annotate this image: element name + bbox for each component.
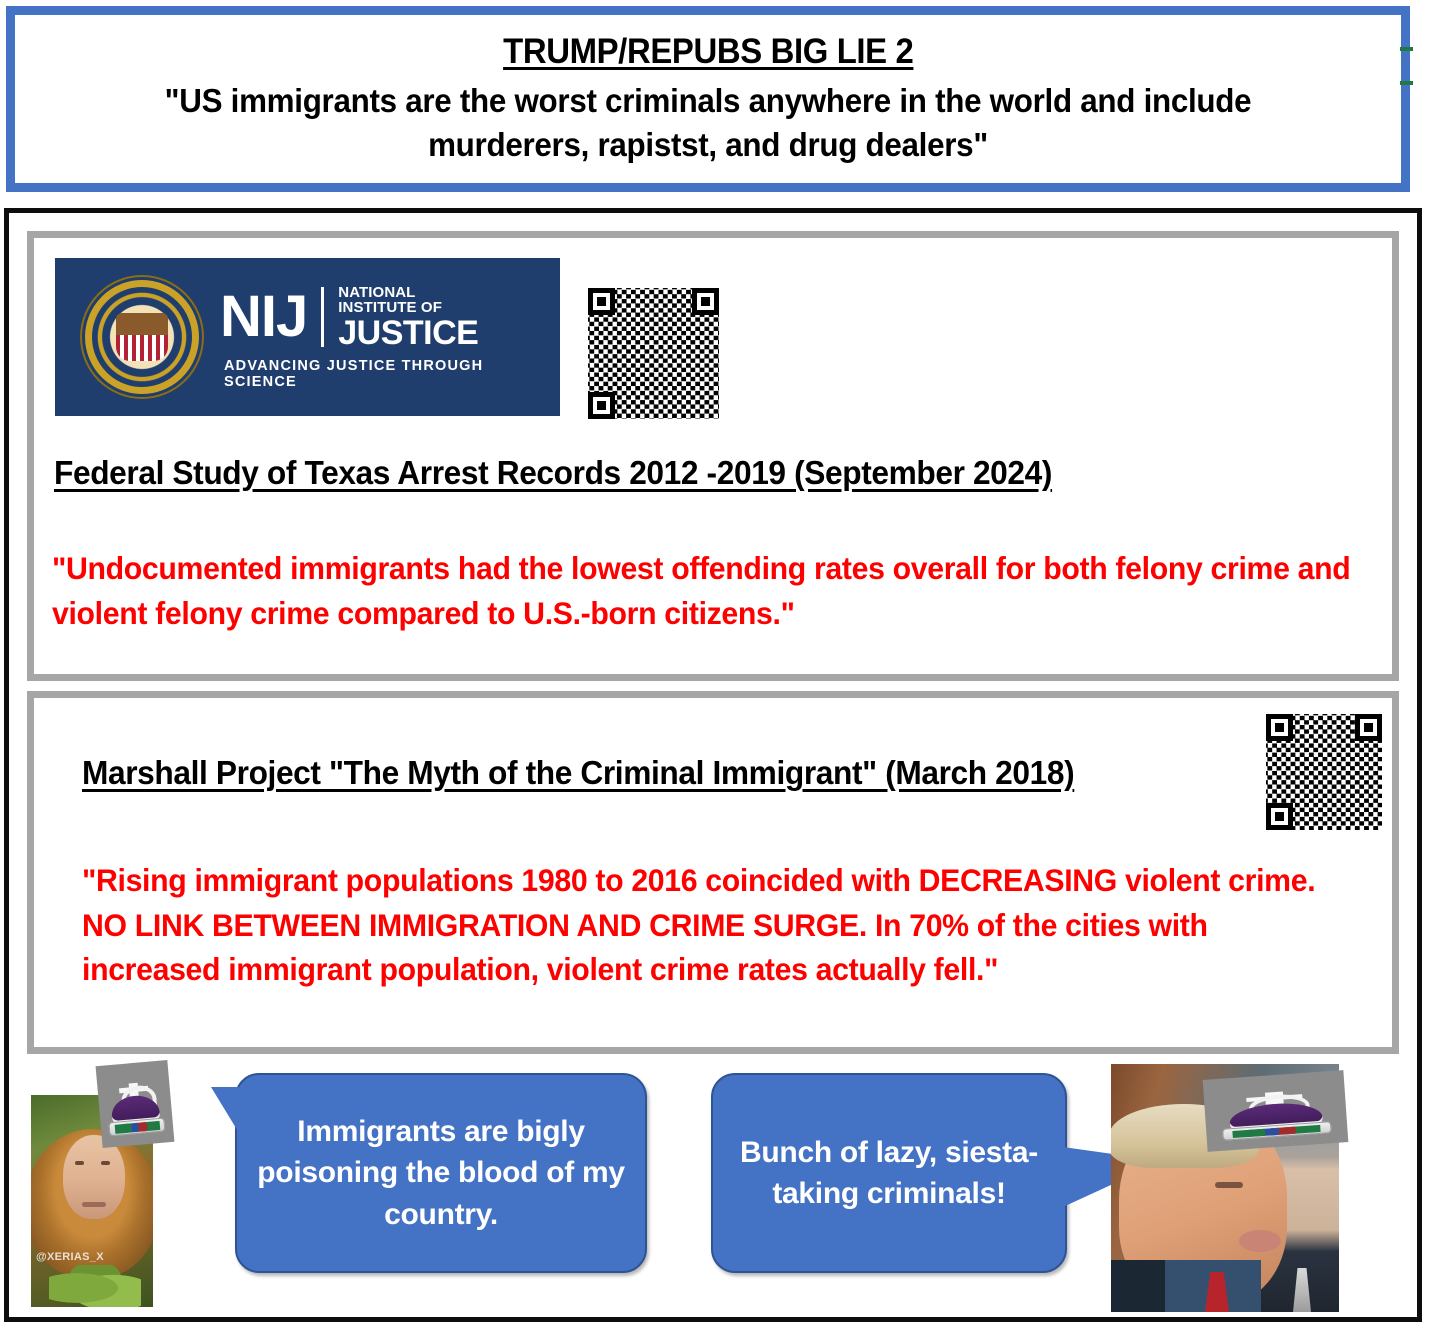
background-person-tie [1293,1268,1311,1312]
qr-code-icon-nij[interactable] [585,285,722,422]
source-panel-marshall: Marshall Project "The Myth of the Crimin… [27,691,1399,1054]
guide-mark-icon [1400,81,1413,85]
crown-icon-right [1203,1070,1349,1152]
speech-bubble-left: Immigrants are bigly poisoning the blood… [235,1073,647,1273]
nij-abbreviation: NIJ [220,289,307,344]
qr-code-icon-marshall[interactable] [1263,711,1385,833]
speech-bubble-right: Bunch of lazy, siesta-taking criminals! [711,1073,1067,1273]
nij-name-line-1: NATIONAL [338,285,478,300]
trump-lips [1239,1230,1281,1252]
evidence-frame: NIJ NATIONAL INSTITUTE OF JUSTICE ADVANC… [4,208,1422,1322]
source-quote-nij: "Undocumented immigrants had the lowest … [52,546,1358,635]
nij-name-line-2: INSTITUTE OF [338,300,478,315]
claim-line-1: "US immigrants are the worst criminals a… [91,79,1326,123]
doj-seal-icon [80,275,204,399]
speech-bubble-right-text: Bunch of lazy, siesta-taking criminals! [713,1132,1065,1215]
source-heading-marshall: Marshall Project "The Myth of the Crimin… [82,754,1074,792]
nij-wordmark: NIJ NATIONAL INSTITUTE OF JUSTICE ADVANC… [220,285,560,390]
nij-name-line-3: JUSTICE [338,316,478,350]
nij-logo: NIJ NATIONAL INSTITUTE OF JUSTICE ADVANC… [55,258,560,416]
seal-ring [80,275,204,399]
source-quote-marshall: "Rising immigrant populations 1980 to 20… [82,858,1320,992]
photo-watermark: @XERIAS_X [36,1251,104,1263]
trump-eye [1215,1182,1243,1188]
nij-divider [321,287,324,347]
big-lie-claim-box: TRUMP/REPUBS BIG LIE 2 "US immigrants ar… [6,6,1410,192]
source-panel-nij: NIJ NATIONAL INSTITUTE OF JUSTICE ADVANC… [27,231,1399,681]
trump-face [63,1135,125,1219]
nij-tagline: ADVANCING JUSTICE THROUGH SCIENCE [224,358,560,390]
crown-icon-left [96,1060,175,1148]
page-title: TRUMP/REPUBS BIG LIE 2 [503,32,913,72]
speech-bubble-left-text: Immigrants are bigly poisoning the blood… [237,1111,645,1235]
foliage [49,1265,141,1307]
trump-suit [1111,1260,1261,1312]
speech-bubble-tail-icon [211,1087,239,1133]
guide-mark-icon [1400,47,1413,51]
claim-line-2: murderers, rapistst, and drug dealers" [91,123,1326,167]
source-heading-nij: Federal Study of Texas Arrest Records 20… [54,454,1052,492]
